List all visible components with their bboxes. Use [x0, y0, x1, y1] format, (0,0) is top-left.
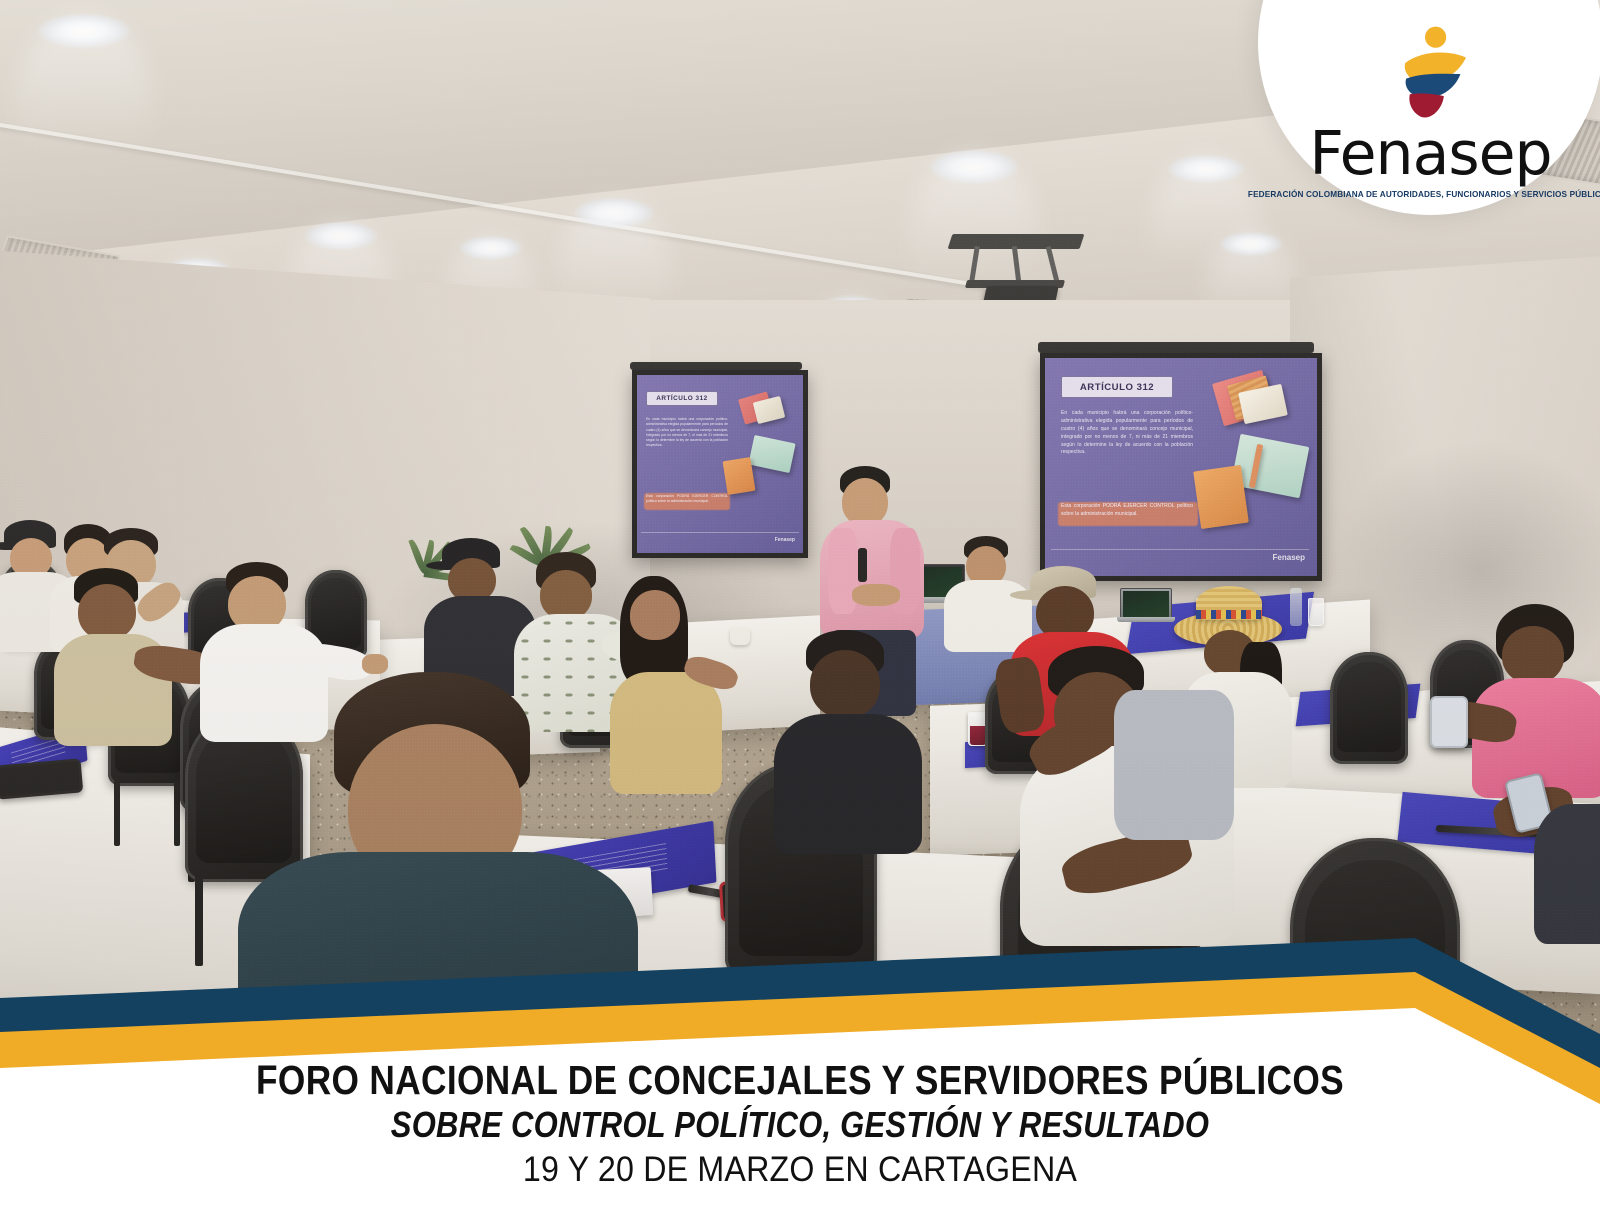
ceiling-light — [1168, 155, 1244, 183]
slide-fenasep-logo-right: Fenasep — [1273, 553, 1305, 562]
event-title-subtitle: SOBRE CONTROL POLÍTICO, GESTIÓN Y RESULT… — [112, 1105, 1488, 1145]
attendee-phone — [1430, 696, 1468, 748]
event-date-location: 19 Y 20 DE MARZO EN CARTAGENA — [64, 1150, 1536, 1189]
book-orange-icon — [1193, 465, 1249, 529]
book-orange-icon — [723, 457, 756, 495]
coffee-cup — [730, 628, 750, 645]
presenter-head — [842, 478, 888, 526]
fenasep-wordmark: Fenasep — [1309, 124, 1551, 184]
ceiling-light — [460, 236, 522, 260]
slide-body-left: En cada municipio habrá una corporación … — [646, 417, 728, 449]
ceiling-light — [38, 14, 130, 48]
ceiling-light — [1220, 232, 1282, 256]
presenter-laptop — [1120, 588, 1172, 626]
water-bottle — [1290, 588, 1302, 626]
slide-highlight-text-left: Esta corporación PODRÁ EJERCER CONTROL p… — [646, 494, 728, 505]
slide-body-right: En cada municipio habrá una corporación … — [1061, 410, 1193, 457]
ceiling-light — [575, 198, 653, 228]
slide-heading-right: ARTÍCULO 312 — [1061, 376, 1173, 398]
event-poster: ARTÍCULO 312 En cada municipio habrá una… — [0, 0, 1600, 1221]
slide-fenasep-logo-left: Fenasep — [775, 537, 795, 543]
slide-divider-left — [641, 532, 799, 533]
slide-content-right: ARTÍCULO 312 En cada municipio habrá una… — [1045, 358, 1317, 576]
event-title-primary: FORO NACIONAL DE CONCEJALES Y SERVIDORES… — [112, 1058, 1488, 1102]
screen-roller-left — [630, 362, 802, 370]
banquet-chair — [1330, 652, 1408, 764]
slide-highlight-text-right: Esta corporación PODRÁ EJERCER CONTROL p… — [1061, 503, 1193, 519]
projection-screen-right: ARTÍCULO 312 En cada municipio habrá una… — [1040, 353, 1322, 581]
ceiling-light — [930, 150, 1018, 184]
fenasep-logo-badge: Fenasep FEDERACIÓN COLOMBIANA DE AUTORID… — [1258, 0, 1600, 215]
ceiling-light — [305, 222, 377, 250]
hat-band — [1196, 610, 1262, 619]
shirt — [238, 852, 638, 1070]
banquet-chair — [1290, 838, 1460, 1070]
fenasep-figure-icon — [1385, 26, 1477, 122]
slide-content-left: ARTÍCULO 312 En cada municipio habrá una… — [637, 375, 803, 553]
screen-roller-right — [1038, 342, 1314, 353]
slide-heading-left: ARTÍCULO 312 — [646, 391, 718, 406]
event-title-block: FORO NACIONAL DE CONCEJALES Y SERVIDORES… — [0, 1058, 1600, 1189]
fenasep-tagline: FEDERACIÓN COLOMBIANA DE AUTORIDADES, FU… — [1248, 190, 1600, 199]
slide-divider-right — [1051, 549, 1309, 550]
projection-screen-left: ARTÍCULO 312 En cada municipio habrá una… — [632, 370, 808, 558]
microphone — [858, 548, 867, 582]
book-teal-open-icon — [748, 435, 795, 473]
water-glass — [1308, 598, 1324, 626]
